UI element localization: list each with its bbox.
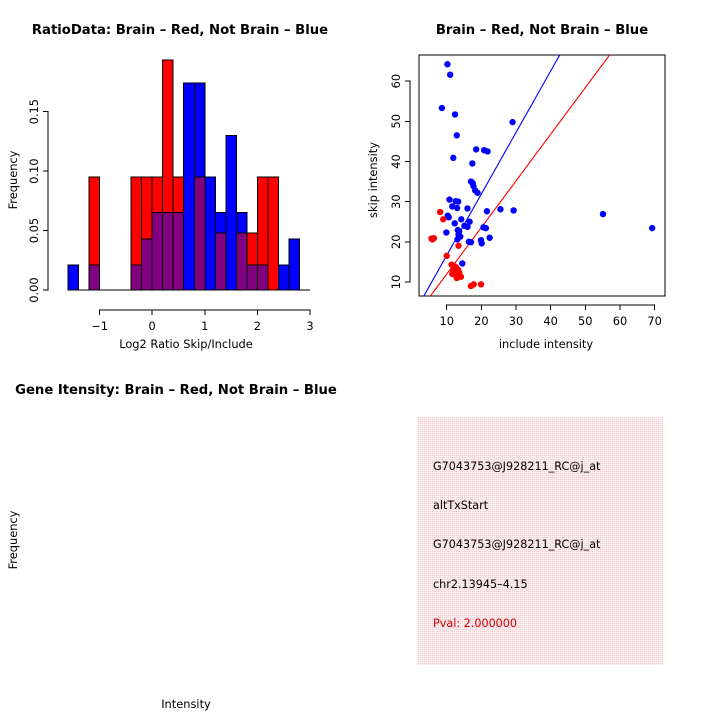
histogram-bar (152, 213, 163, 290)
scatter-point (464, 224, 470, 230)
scatter-point (649, 225, 655, 231)
ratio-histogram-plot-area: −101230.000.050.100.15 (27, 60, 314, 333)
histogram-bar (184, 83, 195, 290)
scatter-xlabel: include intensity (499, 337, 594, 351)
x-tick-label: 40 (543, 314, 558, 328)
y-tick-label: 40 (389, 154, 403, 169)
scatter-point (479, 240, 485, 246)
annotation-info-lines: G7043753@J928211_RC@j_at altTxStart G704… (433, 461, 657, 629)
scatter-point (469, 160, 475, 166)
scatter-point (455, 243, 461, 249)
histogram-bar (89, 265, 100, 290)
event-type-label: altTxStart (433, 500, 657, 511)
panel-ratio-histogram: RatioData: Brain – Red, Not Brain – Blue… (0, 0, 360, 360)
gene-histogram-svg: Gene Itensity: Brain – Red, Not Brain – … (0, 360, 360, 720)
regression-line (430, 55, 609, 296)
scatter-point (483, 225, 489, 231)
x-tick-label: 3 (306, 319, 313, 333)
scatter-inner (424, 55, 656, 296)
x-tick-label: 30 (509, 314, 524, 328)
scatter-point (444, 253, 450, 259)
y-tick-label: 0.15 (27, 99, 41, 124)
scatter-point (600, 211, 606, 217)
scatter-point (454, 275, 460, 281)
scatter-point (497, 206, 503, 212)
scatter-frame (419, 55, 665, 296)
y-axis-line (43, 112, 48, 290)
gene-histogram-xlabel: Intensity (161, 697, 211, 711)
gene-histogram-title: Gene Itensity: Brain – Red, Not Brain – … (15, 383, 337, 398)
y-tick-label: 50 (389, 114, 403, 128)
probe-set-id-primary: G7043753@J928211_RC@j_at (433, 461, 657, 472)
y-tick-label: 0.05 (27, 218, 41, 243)
y-tick-label: 0.10 (27, 158, 41, 183)
histogram-bar (205, 177, 216, 290)
scatter-point (431, 235, 437, 241)
histogram-bar (194, 177, 205, 290)
histogram-bar (247, 265, 258, 290)
annotation-info-panel: G7043753@J928211_RC@j_at altTxStart G704… (417, 417, 663, 665)
scatter-point (452, 111, 458, 117)
scatter-point (510, 207, 516, 213)
scatter-point (439, 105, 445, 111)
scatter-point (478, 281, 484, 287)
probe-set-id-secondary: G7043753@J928211_RC@j_at (433, 539, 657, 550)
panel-intensity-scatter: Brain – Red, Not Brain – Blue 1020304050… (360, 0, 720, 360)
scatter-point (471, 281, 477, 287)
scatter-point (437, 209, 443, 215)
ratio-histogram-xlabel: Log2 Ratio Skip/Include (119, 337, 253, 351)
histogram-bar (173, 213, 184, 290)
x-tick-label: 2 (254, 319, 261, 333)
y-tick-label: 20 (389, 235, 403, 250)
histogram-bar (163, 213, 174, 290)
y-tick-label: 0.00 (27, 277, 41, 302)
ratio-histogram-ylabel: Frequency (6, 150, 20, 209)
y-tick-label: 10 (389, 275, 403, 290)
histogram-bar (278, 265, 289, 290)
scatter-point (450, 155, 456, 161)
panel-gene-intensity-histogram: Gene Itensity: Brain – Red, Not Brain – … (0, 360, 360, 720)
scatter-title: Brain – Red, Not Brain – Blue (436, 23, 648, 38)
scatter-point (454, 205, 460, 211)
scatter-point (447, 71, 453, 77)
regression-line (424, 55, 560, 296)
scatter-point (468, 239, 474, 245)
histogram-bar (215, 233, 226, 290)
ratio-histogram-title: RatioData: Brain – Red, Not Brain – Blue (32, 23, 328, 38)
scatter-point (458, 216, 464, 222)
scatter-point (451, 220, 457, 226)
scatter-point (484, 148, 490, 154)
histogram-bar (68, 265, 79, 290)
x-tick-label: 10 (439, 314, 454, 328)
scatter-point (454, 132, 460, 138)
scatter-point (486, 235, 492, 241)
histogram-bar (131, 265, 142, 290)
scatter-ylabel: skip intensity (366, 142, 380, 218)
locus-label: chr2.13945–4.15 (433, 579, 657, 590)
x-tick-label: −1 (91, 319, 108, 333)
scatter-point (454, 236, 460, 242)
scatter-plot-area: 10203040506070102030405060 (389, 55, 665, 328)
scatter-point (473, 146, 479, 152)
x-tick-label: 0 (149, 319, 156, 333)
histogram-bar (226, 135, 237, 290)
x-tick-label: 60 (613, 314, 628, 328)
scatter-point (459, 260, 465, 266)
gene-histogram-ylabel: Frequency (6, 510, 20, 569)
scatter-point (440, 216, 446, 222)
pval-label: Pval: 2.000000 (433, 618, 657, 629)
y-tick-label: 60 (389, 74, 403, 89)
histogram-bar (142, 239, 153, 290)
scatter-point (446, 214, 452, 220)
scatter-point (443, 229, 449, 235)
scatter-point (446, 196, 452, 202)
scatter-point (484, 208, 490, 214)
scatter-point (464, 205, 470, 211)
ratio-histogram-svg: RatioData: Brain – Red, Not Brain – Blue… (0, 0, 360, 360)
histogram-bar (236, 233, 247, 290)
histogram-bar (257, 265, 268, 290)
y-tick-label: 30 (389, 194, 403, 209)
x-tick-label: 70 (647, 314, 662, 328)
y-axis-line (405, 81, 410, 282)
x-tick-label: 20 (474, 314, 489, 328)
intensity-scatter-svg: Brain – Red, Not Brain – Blue 1020304050… (360, 0, 720, 360)
scatter-point (455, 198, 461, 204)
x-tick-label: 1 (201, 319, 208, 333)
histogram-bar (268, 177, 279, 290)
histogram-bar (289, 239, 300, 290)
scatter-point (474, 190, 480, 196)
x-tick-label: 50 (578, 314, 593, 328)
scatter-point (444, 61, 450, 67)
scatter-point (509, 119, 515, 125)
